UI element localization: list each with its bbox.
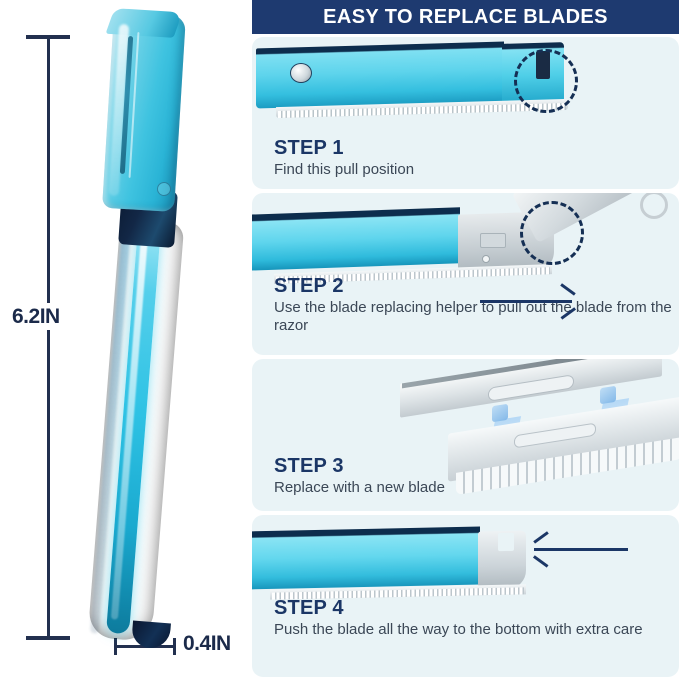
- razor-metal-slot: [480, 233, 506, 248]
- razor-brand-mark: [107, 532, 156, 605]
- razor-hang-hole: [290, 63, 312, 83]
- helper-tool-hole: [640, 193, 668, 219]
- height-dimension-cap-bottom: [26, 636, 70, 640]
- step-1-description: Find this pull position: [274, 161, 414, 179]
- step-3-description: Replace with a new blade: [274, 479, 445, 497]
- step-3-title: STEP 3: [274, 455, 445, 477]
- step-2-text: STEP 2 Use the blade replacing helper to…: [274, 275, 679, 336]
- step-1-title: STEP 1: [274, 137, 414, 159]
- infographic-root: 6.2IN 0.4IN EASY TO REPLACE BLADES: [0, 0, 679, 679]
- razor-cap-notch: [498, 533, 514, 551]
- step-3-text: STEP 3 Replace with a new blade: [274, 455, 445, 497]
- step-card-3: STEP 3 Replace with a new blade: [252, 359, 679, 511]
- razor-head-top: [106, 8, 183, 38]
- steps-panel: EASY TO REPLACE BLADES STEP 1 Find this …: [250, 0, 679, 679]
- height-dimension-line: [47, 36, 50, 638]
- highlight-dashed-circle: [514, 49, 578, 113]
- alignment-nub: [600, 386, 616, 405]
- step-2-direction-arrow-right: [480, 291, 580, 313]
- razor-body-side-view: [252, 207, 460, 270]
- alignment-nub: [492, 404, 508, 423]
- step-1-illustration: [252, 37, 679, 137]
- step-1-text: STEP 1 Find this pull position: [274, 137, 414, 179]
- razor-product-image: [80, 14, 210, 639]
- step-4-description: Push the blade all the way to the bottom…: [274, 621, 643, 639]
- product-dimension-panel: 6.2IN 0.4IN: [0, 0, 250, 679]
- step-4-direction-arrow-left: [526, 539, 636, 561]
- height-dimension-label: 6.2IN: [8, 303, 64, 330]
- step-2-title: STEP 2: [274, 275, 679, 297]
- width-dimension-cap-right: [173, 638, 176, 655]
- step-card-2: STEP 2 Use the blade replacing helper to…: [252, 193, 679, 355]
- step-card-1: STEP 1 Find this pull position: [252, 37, 679, 189]
- banner-title: EASY TO REPLACE BLADES: [323, 7, 608, 27]
- step-2-description: Use the blade replacing helper to pull o…: [274, 299, 679, 336]
- step-4-title: STEP 4: [274, 597, 643, 619]
- step-card-4: STEP 4 Push the blade all the way to the…: [252, 515, 679, 677]
- step-4-text: STEP 4 Push the blade all the way to the…: [274, 597, 643, 639]
- razor-metal-pin: [482, 255, 490, 263]
- razor-body-side-view: [252, 527, 480, 590]
- header-banner: EASY TO REPLACE BLADES: [252, 0, 679, 34]
- highlight-dashed-circle: [520, 201, 584, 265]
